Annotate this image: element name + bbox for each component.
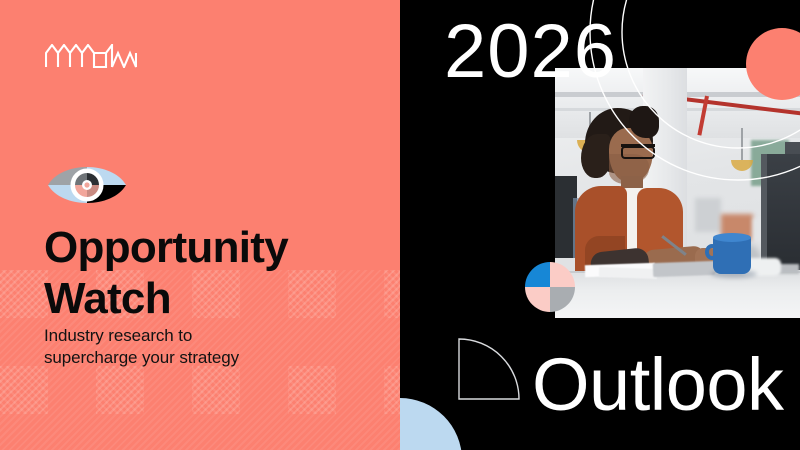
arrow-wordmark-logo[interactable] <box>45 44 137 68</box>
opportunity-watch-eye-icon <box>46 158 128 212</box>
quadrant-bottom-left <box>525 287 550 312</box>
right-black-panel: 2026 Outlook <box>400 0 800 450</box>
subtitle-line-2: supercharge your strategy <box>44 347 374 369</box>
page-subtitle: Industry research to supercharge your st… <box>44 325 374 369</box>
title-line-1: Opportunity <box>44 222 374 273</box>
quarter-circle-outline-decoration <box>458 338 520 400</box>
report-cover-slide: Opportunity Watch Industry research to s… <box>0 0 800 450</box>
page-title: Opportunity Watch <box>44 222 374 324</box>
quadrant-top-right <box>550 262 575 287</box>
quadrant-top-left <box>525 262 550 287</box>
blue-quarter-circle-decoration <box>400 398 462 450</box>
year-heading: 2026 <box>444 14 617 90</box>
left-coral-panel: Opportunity Watch Industry research to s… <box>0 0 400 450</box>
quadrant-circle-decoration <box>525 262 575 312</box>
quadrant-bottom-right <box>550 287 575 312</box>
subtitle-line-1: Industry research to <box>44 325 374 347</box>
title-line-2: Watch <box>44 273 374 324</box>
outlook-heading: Outlook <box>532 348 784 422</box>
